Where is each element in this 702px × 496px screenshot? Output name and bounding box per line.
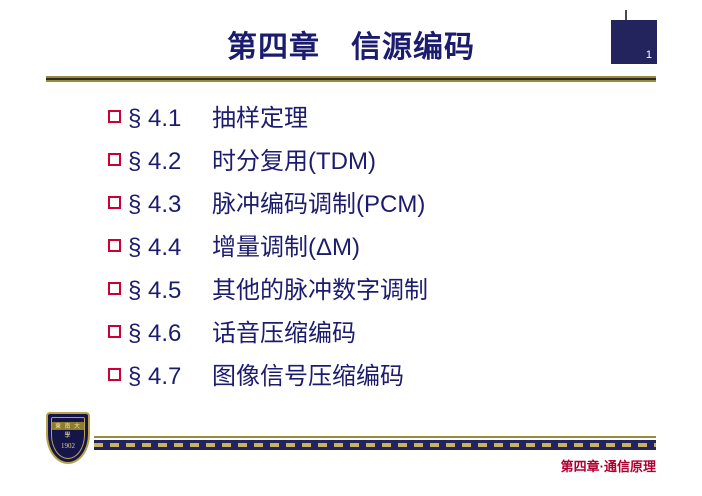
slide: 第四章 信源编码 1 § 4.1 抽样定理 § 4.2 时分复用(TDM) § … [0,0,702,496]
page-title: 第四章 信源编码 [0,22,702,66]
list-item-section: § 4.3 [128,191,212,219]
list-item-section: § 4.2 [128,148,212,176]
list-item-section: § 4.4 [128,234,212,262]
list-item-label: 抽样定理 [212,98,308,133]
square-bullet-icon [108,368,128,381]
square-bullet-icon [108,153,128,166]
list-item-label: 时分复用(TDM) [212,141,376,176]
footer-bar-dashes [94,443,656,447]
list-item-label: 话音压缩编码 [212,313,356,348]
crest-bottom-letters: 1902 [52,442,84,450]
page-number-box: 1 [611,20,657,64]
title-divider-dark [46,78,656,80]
list-item-label: 图像信号压缩编码 [212,356,404,391]
agenda-list: § 4.1 抽样定理 § 4.2 时分复用(TDM) § 4.3 脉冲编码调制(… [108,98,668,399]
footer-divider-gold [94,436,656,438]
list-item[interactable]: § 4.5 其他的脉冲数字调制 [108,270,668,313]
list-item-section: § 4.7 [128,363,212,391]
square-bullet-icon [108,239,128,252]
square-bullet-icon [108,196,128,209]
list-item[interactable]: § 4.3 脉冲编码调制(PCM) [108,184,668,227]
list-item[interactable]: § 4.4 增量调制(ΔM) [108,227,668,270]
square-bullet-icon [108,325,128,338]
crest-top-letters: 東 南 大 學 [52,421,84,439]
title-divider [46,76,656,82]
list-item[interactable]: § 4.6 话音压缩编码 [108,313,668,356]
list-item-section: § 4.1 [128,105,212,133]
list-item-section: § 4.6 [128,320,212,348]
list-item[interactable]: § 4.2 时分复用(TDM) [108,141,668,184]
list-item-label: 增量调制(ΔM) [212,227,360,262]
list-item[interactable]: § 4.7 图像信号压缩编码 [108,356,668,399]
list-item[interactable]: § 4.1 抽样定理 [108,98,668,141]
university-crest-icon: 東 南 大 學 1902 [44,412,92,470]
footer-bar [94,440,656,450]
list-item-label: 脉冲编码调制(PCM) [212,184,425,219]
footer-label: 第四章·通信原理 [561,456,656,475]
square-bullet-icon [108,110,128,123]
list-item-section: § 4.5 [128,277,212,305]
page-number: 1 [646,49,652,61]
square-bullet-icon [108,282,128,295]
list-item-label: 其他的脉冲数字调制 [212,270,428,305]
